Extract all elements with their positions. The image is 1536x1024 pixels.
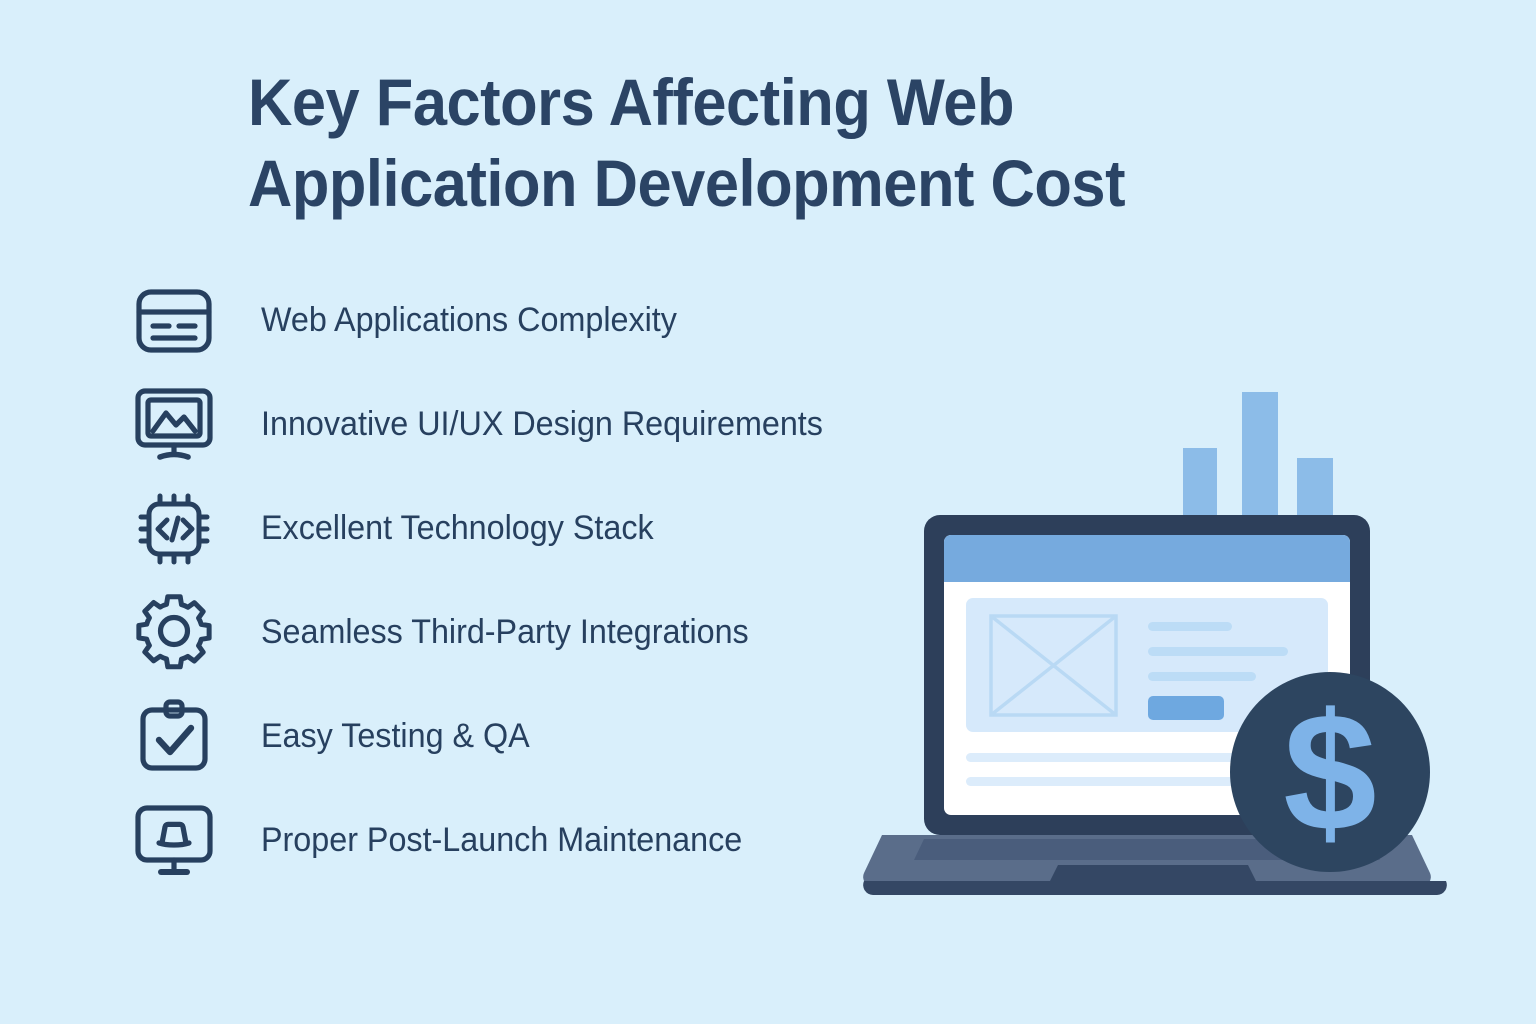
clipboard-check-icon [133, 698, 219, 776]
factor-item-seamless-third-party-integrations[interactable]: Seamless Third-Party Integrations [133, 594, 923, 672]
gear-icon [133, 594, 219, 672]
dollar-badge: $ [1230, 672, 1430, 872]
card-button [1148, 696, 1224, 720]
cpu-code-icon [133, 490, 219, 568]
browser-window-icon [133, 282, 219, 360]
factor-list: Web Applications Complexity Innovative U… [133, 282, 923, 906]
factor-label: Proper Post-Launch Maintenance [261, 822, 742, 859]
factor-label: Innovative UI/UX Design Requirements [261, 406, 823, 443]
laptop-trackpad [1049, 865, 1257, 883]
laptop-illustration: $ [860, 360, 1480, 920]
monitor-image-icon [133, 386, 219, 464]
factor-item-easy-testing-and-qa[interactable]: Easy Testing & QA [133, 698, 923, 776]
factor-label: Easy Testing & QA [261, 718, 530, 755]
factor-label: Web Applications Complexity [261, 302, 677, 339]
factor-item-web-applications-complexity[interactable]: Web Applications Complexity [133, 282, 923, 360]
page-title: Key Factors Affecting Web Application De… [248, 62, 1271, 223]
factor-item-innovative-ui-ux-design-requirements[interactable]: Innovative UI/UX Design Requirements [133, 386, 923, 464]
factor-label: Excellent Technology Stack [261, 510, 654, 547]
dollar-symbol: $ [1283, 678, 1376, 866]
monitor-support-icon [133, 802, 219, 880]
browser-header-bar [944, 535, 1350, 582]
laptop-base-edge [863, 881, 1447, 895]
factor-item-proper-post-launch-maintenance[interactable]: Proper Post-Launch Maintenance [133, 802, 923, 880]
factor-label: Seamless Third-Party Integrations [261, 614, 749, 651]
infographic-canvas: Key Factors Affecting Web Application De… [0, 0, 1536, 1024]
factor-item-excellent-technology-stack[interactable]: Excellent Technology Stack [133, 490, 923, 568]
